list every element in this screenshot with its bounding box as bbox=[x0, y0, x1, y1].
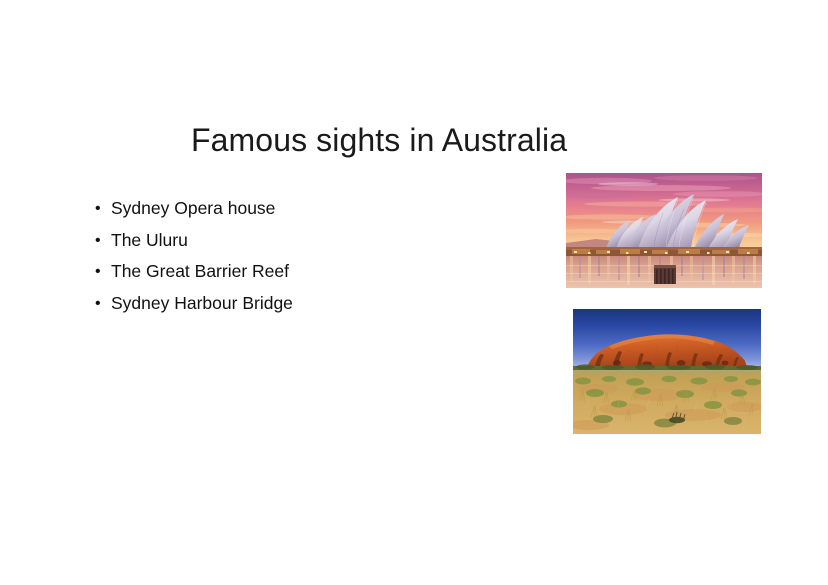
list-item: • The Uluru bbox=[94, 225, 514, 257]
list-item: • Sydney Opera house bbox=[94, 193, 514, 225]
list-item: • Sydney Harbour Bridge bbox=[94, 288, 514, 320]
list-item-label: The Great Barrier Reef bbox=[111, 261, 289, 281]
bullet-icon: • bbox=[95, 193, 101, 225]
slide-canvas: Famous sights in Australia • Sydney Oper… bbox=[0, 0, 828, 585]
bullet-icon: • bbox=[95, 256, 101, 288]
sydney-opera-house-illustration bbox=[566, 173, 762, 288]
uluru-photo bbox=[573, 309, 761, 434]
list-item: • The Great Barrier Reef bbox=[94, 256, 514, 288]
page-title: Famous sights in Australia bbox=[191, 120, 567, 162]
list-item-label: Sydney Opera house bbox=[111, 198, 275, 218]
uluru-illustration bbox=[573, 309, 761, 434]
bullet-list: • Sydney Opera house • The Uluru • The G… bbox=[94, 193, 514, 319]
list-item-label: The Uluru bbox=[111, 230, 188, 250]
sydney-opera-house-photo bbox=[566, 173, 762, 288]
bullet-icon: • bbox=[95, 225, 101, 257]
list-item-label: Sydney Harbour Bridge bbox=[111, 293, 293, 313]
bullet-icon: • bbox=[95, 288, 101, 320]
